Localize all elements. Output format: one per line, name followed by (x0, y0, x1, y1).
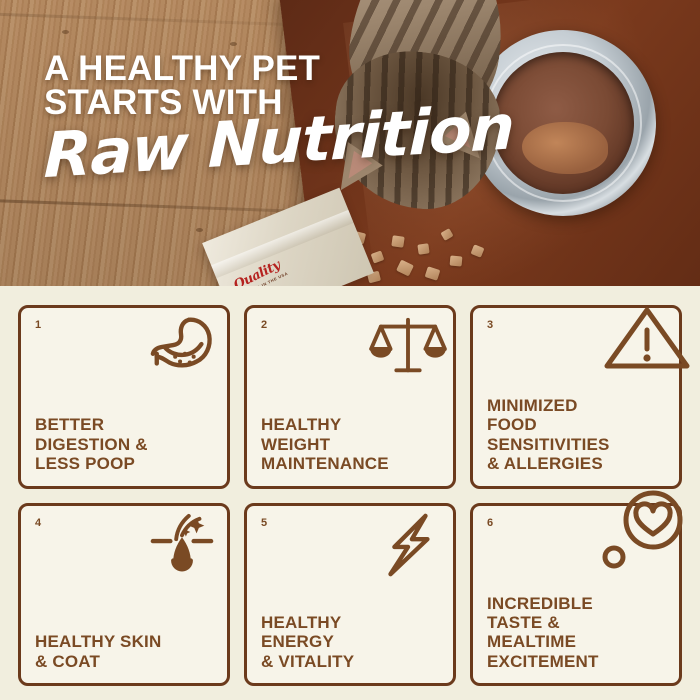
benefit-card-3[interactable]: 3 MINIMIZED FOOD SENSITIVITIES & ALLERGI… (470, 305, 682, 489)
heart-circle-icon (597, 486, 693, 582)
kibble-piece (391, 235, 404, 248)
benefit-card-4[interactable]: 4 HEALTHY SKIN & COAT (18, 503, 230, 687)
benefit-number: 1 (35, 320, 213, 331)
headline-line-1: A HEALTHY PET (44, 52, 515, 86)
benefit-card-6[interactable]: 6 INCREDIBLE TASTE & MEALTIME EXCITEMENT (470, 503, 682, 687)
benefit-label: INCREDIBLE TASTE & MEALTIME EXCITEMENT (487, 594, 665, 672)
benefit-label: HEALTHY SKIN & COAT (35, 632, 213, 671)
hero-headline: A HEALTHY PET STARTS WITH Raw Nutrition (44, 52, 515, 190)
benefit-label: BETTER DIGESTION & LESS POOP (35, 415, 213, 473)
warning-icon (599, 296, 695, 378)
hero-banner: Quality CRAFTED IN THE USA A HEALTHY PET… (0, 0, 700, 286)
kibble-piece (417, 243, 429, 254)
benefit-card-5[interactable]: 5 HEALTHY ENERGY & VITALITY (244, 503, 456, 687)
bowl-food (522, 122, 608, 174)
benefit-number: 5 (261, 518, 439, 529)
benefit-number: 6 (487, 518, 665, 529)
kibble-piece (450, 255, 463, 266)
poster: Quality CRAFTED IN THE USA A HEALTHY PET… (0, 0, 700, 700)
benefit-label: MINIMIZED FOOD SENSITIVITIES & ALLERGIES (487, 396, 665, 474)
benefit-number: 4 (35, 518, 213, 529)
benefit-number: 2 (261, 320, 439, 331)
benefit-card-2[interactable]: 2 HEALTHY WEIGHT MAINTENANCE (244, 305, 456, 489)
benefit-label: HEALTHY WEIGHT MAINTENANCE (261, 415, 439, 473)
wood-knot (62, 30, 69, 34)
wood-knot (196, 228, 203, 232)
benefit-number: 3 (487, 320, 665, 331)
benefits-grid: 1 BETTER DIGESTION & LESS POOP 2 (0, 296, 700, 700)
benefit-label: HEALTHY ENERGY & VITALITY (261, 613, 439, 671)
benefit-card-1[interactable]: 1 BETTER DIGESTION & LESS POOP (18, 305, 230, 489)
wood-knot (230, 42, 237, 46)
